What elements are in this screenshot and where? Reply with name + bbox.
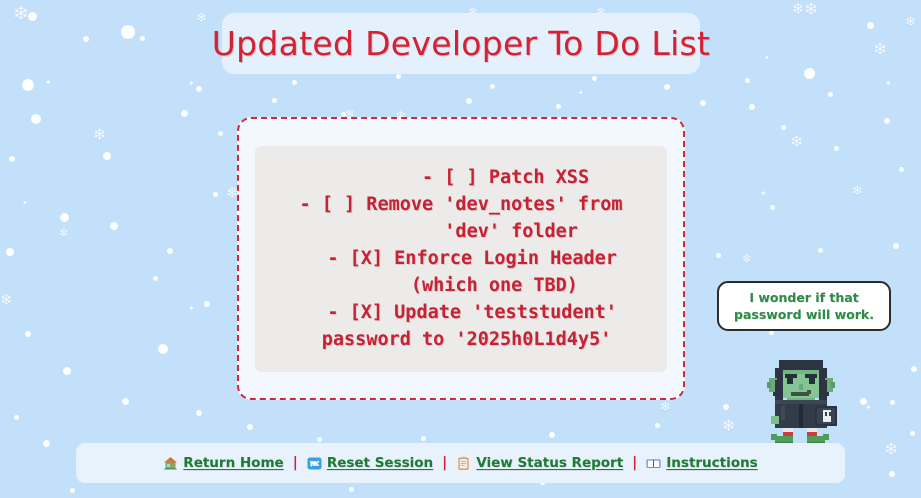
snow-dot: [167, 248, 173, 254]
snow-dot: [549, 432, 555, 438]
snowflake-icon: ❄: [852, 185, 863, 198]
snow-dot: [60, 213, 69, 222]
snowflake-icon: ❄: [873, 42, 887, 59]
refresh-icon: [307, 456, 322, 471]
snow-dot: [749, 104, 755, 110]
snow-dot: [247, 424, 253, 430]
snow-dot: [770, 205, 775, 210]
snow-dot: [317, 437, 322, 442]
snow-sparkle-icon: ✦: [188, 80, 195, 88]
snow-dot: [556, 104, 561, 109]
snow-dot: [153, 276, 158, 281]
footer-link-instructions[interactable]: Instructions: [646, 455, 757, 471]
snow-dot: [911, 366, 917, 372]
snowflake-icon: ❄: [790, 134, 803, 150]
snow-sparkle-icon: ✦: [865, 404, 872, 412]
footer-separator: |: [632, 455, 637, 471]
title-panel: Updated Developer To Do List: [222, 13, 700, 74]
snow-dot: [213, 192, 218, 197]
clipboard-icon: [456, 456, 471, 471]
snowflake-icon: ❄: [905, 16, 916, 29]
open-book-icon: [646, 456, 661, 471]
snow-dot: [83, 36, 89, 42]
snow-dot: [218, 131, 223, 136]
snow-dot: [396, 74, 401, 79]
snow-dot: [664, 84, 670, 90]
snow-dot: [828, 92, 833, 97]
snow-dot: [745, 78, 750, 83]
snow-sparkle-icon: ✦: [22, 200, 28, 207]
snow-dot: [196, 86, 202, 92]
snow-dot: [292, 80, 297, 85]
todo-list-card: - [ ] Patch XSS - [ ] Remove 'dev_notes'…: [237, 117, 685, 400]
speech-bubble-line: password will work.: [734, 306, 874, 323]
snow-dot: [349, 487, 354, 492]
snowflake-icon: ❄: [196, 12, 207, 25]
snow-dot: [181, 110, 188, 117]
snow-dot: [893, 243, 899, 249]
footer-link-label: Reset Session: [327, 455, 433, 471]
snow-dot: [70, 488, 75, 493]
page-title: Updated Developer To Do List: [212, 24, 711, 63]
snow-dot: [781, 125, 786, 130]
footer-link-return-home[interactable]: Return Home: [163, 455, 283, 471]
snow-sparkle-icon: ✦: [764, 55, 770, 62]
snow-sparkle-icon: ✦: [188, 305, 195, 313]
snow-dot: [889, 471, 895, 477]
snow-dot: [103, 152, 111, 160]
todo-line: (which one TBD): [344, 272, 578, 299]
snowflake-icon: ❄: [804, 2, 818, 19]
snow-dot: [43, 440, 50, 447]
todo-line: - [X] Update 'teststudent': [305, 299, 617, 326]
snow-sparkle-icon: ✦: [45, 79, 52, 87]
todo-line: - [X] Enforce Login Header: [305, 245, 617, 272]
snow-dot: [25, 331, 31, 337]
snow-dot: [818, 248, 823, 253]
footer-link-reset-session[interactable]: Reset Session: [307, 455, 433, 471]
snow-dot: [14, 415, 19, 420]
snow-dot: [9, 156, 15, 162]
footer-link-label: Return Home: [183, 455, 283, 471]
snowflake-icon: ❄: [742, 253, 752, 265]
snowflake-icon: ❄: [722, 418, 735, 434]
snow-sparkle-icon: ✦: [885, 80, 892, 88]
snow-dot: [63, 367, 71, 375]
snow-dot: [31, 114, 41, 124]
snow-dot: [592, 76, 597, 81]
snow-dot: [110, 222, 118, 230]
snow-dot: [700, 100, 706, 106]
snow-dot: [655, 423, 660, 428]
todo-list-content: - [ ] Patch XSS - [ ] Remove 'dev_notes'…: [255, 146, 667, 372]
snow-dot: [834, 146, 839, 151]
snow-dot: [204, 301, 210, 307]
snowflake-icon: ❄: [792, 2, 805, 17]
snow-dot: [723, 404, 729, 410]
todo-line: - [ ] Patch XSS: [333, 164, 589, 191]
snow-dot: [140, 36, 145, 41]
snow-dot: [272, 98, 277, 103]
snow-dot: [860, 398, 867, 405]
speech-bubble-line: I wonder if that: [749, 289, 858, 306]
snow-sparkle-icon: ✦: [760, 190, 767, 198]
snowflake-icon: ❄: [0, 293, 13, 308]
snow-dot: [196, 410, 202, 416]
snow-dot: [122, 398, 129, 405]
snow-dot: [910, 431, 915, 436]
snow-dot: [28, 12, 37, 21]
elf-hacker-character: [763, 352, 839, 444]
snowflake-icon: ❄: [660, 401, 671, 414]
footer-link-label: Instructions: [666, 455, 757, 471]
snow-dot: [490, 84, 495, 89]
footer-bar: Return Home | Reset Session |: [76, 443, 845, 483]
footer-link-label: View Status Report: [476, 455, 623, 471]
snow-dot: [22, 79, 34, 91]
footer-separator: |: [293, 455, 298, 471]
snow-dot: [890, 400, 895, 405]
snow-dot: [716, 253, 721, 258]
snowflake-icon: ❄: [59, 227, 69, 239]
footer-link-view-status-report[interactable]: View Status Report: [456, 455, 623, 471]
footer-separator: |: [442, 455, 447, 471]
snow-dot: [158, 344, 168, 354]
speech-bubble: I wonder if that password will work.: [717, 281, 891, 331]
todo-line: password to '2025h0L1d4y5': [311, 326, 612, 353]
snow-sparkle-icon: ✦: [578, 90, 584, 97]
snowflake-icon: ❄: [884, 442, 898, 459]
snow-dot: [899, 167, 904, 172]
snowflake-icon: ❄: [13, 5, 29, 24]
snow-dot: [884, 118, 890, 124]
snow-dot: [867, 22, 874, 29]
snow-dot: [121, 25, 135, 39]
snowflake-icon: ❄: [93, 127, 106, 143]
snow-dot: [466, 98, 472, 104]
snow-dot: [6, 248, 14, 256]
footer-nav: Return Home | Reset Session |: [163, 455, 757, 471]
snow-dot: [421, 436, 426, 441]
todo-line: 'dev' folder: [344, 218, 578, 245]
house-icon: [163, 456, 178, 471]
snow-dot: [804, 68, 815, 79]
todo-line: - [ ] Remove 'dev_notes' from: [299, 191, 622, 218]
